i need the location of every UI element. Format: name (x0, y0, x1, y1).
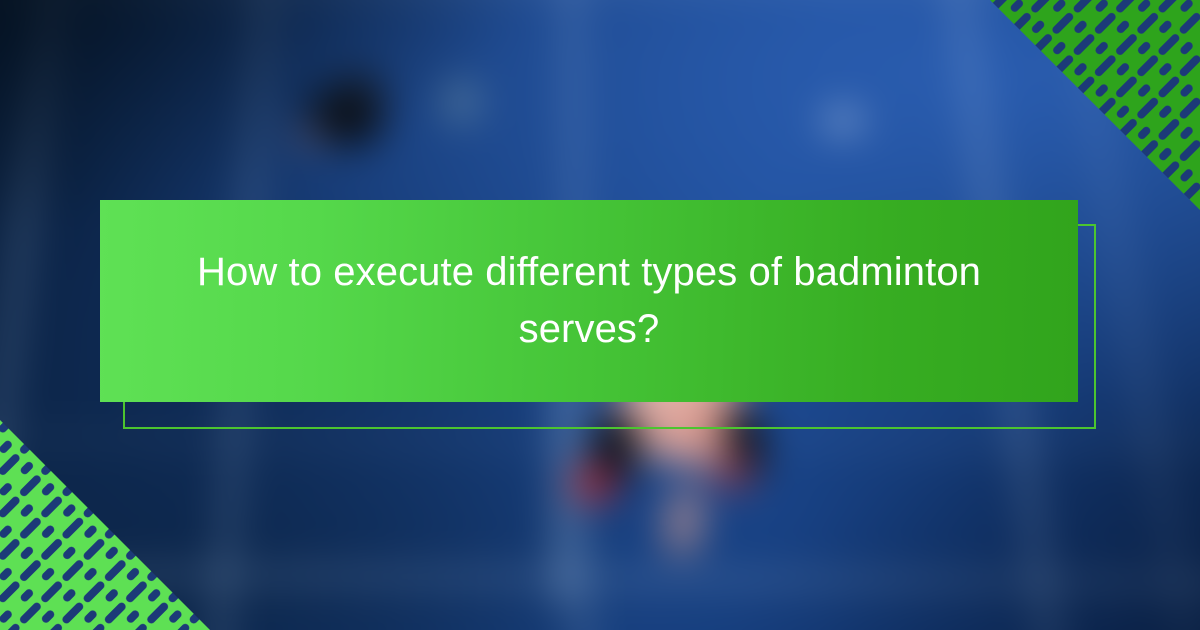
corner-decoration-bottom-left-icon (0, 420, 210, 630)
social-card: How to execute different types of badmin… (0, 0, 1200, 630)
page-title: How to execute different types of badmin… (194, 244, 984, 358)
corner-decoration-top-right-icon (990, 0, 1200, 210)
title-banner: How to execute different types of badmin… (100, 200, 1078, 402)
